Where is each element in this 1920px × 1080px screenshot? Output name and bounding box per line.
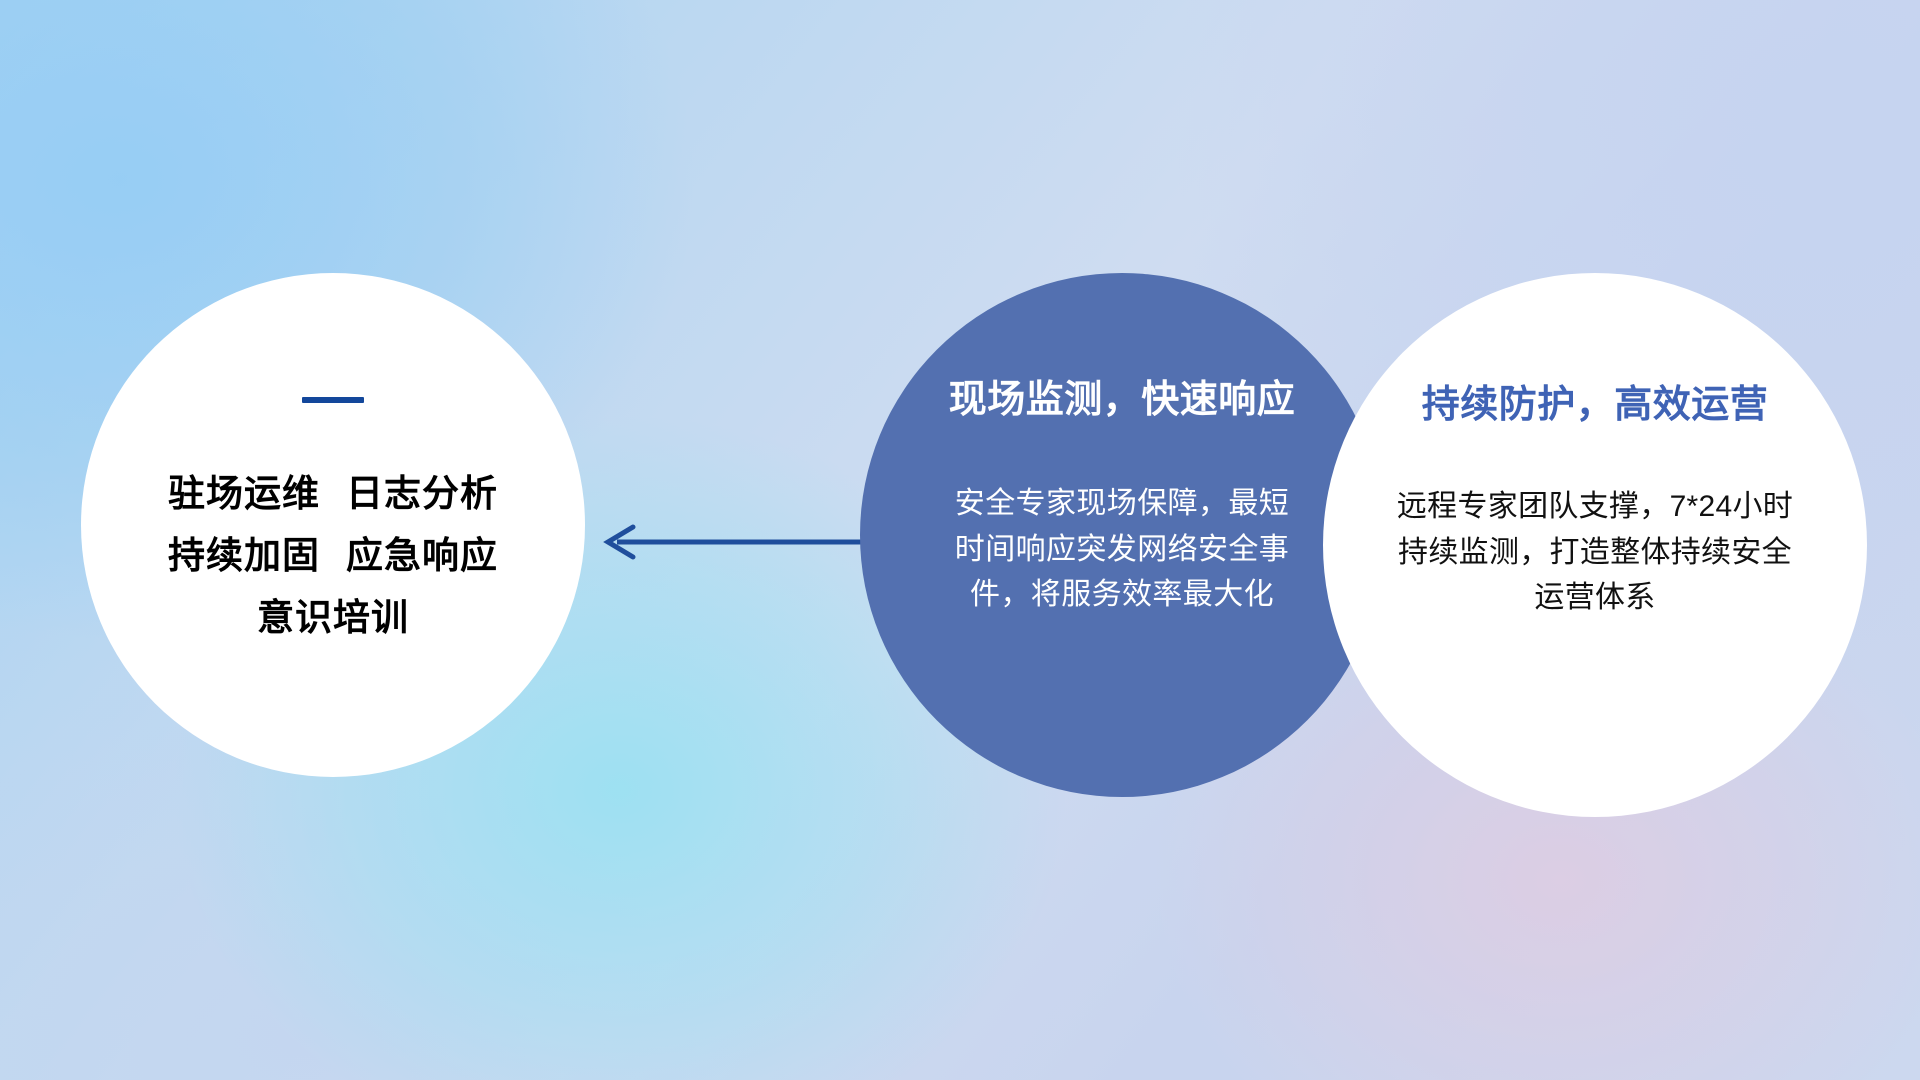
keyword-chixu-jiagu[interactable]: 持续加固: [168, 535, 320, 576]
keyword-rizhi-fenxi[interactable]: 日志分析: [346, 473, 498, 514]
on-site-monitoring-title: 现场监测，快速响应: [949, 368, 1296, 423]
continuous-protection-body: 远程专家团队支撑，7*24小时持续监测，打造整体持续安全运营体系: [1385, 484, 1805, 621]
keyword-row-1: 驻场运维日志分析: [168, 463, 498, 525]
on-site-monitoring-body: 安全专家现场保障，最短时间响应突发网络安全事件，将服务效率最大化: [952, 481, 1292, 618]
keyword-yingji-xiangying[interactable]: 应急响应: [346, 535, 498, 576]
continuous-protection-title: 持续防护，高效运营: [1422, 373, 1769, 428]
keyword-row-2: 持续加固应急响应: [168, 525, 498, 587]
keyword-zhuchang-yunwei[interactable]: 驻场运维: [168, 473, 320, 514]
slide-canvas: 驻场运维日志分析 持续加固应急响应 意识培训 现场监测，快速响应 安全专家现场保…: [0, 0, 1920, 1080]
keyword-row-3: 意识培训: [168, 587, 498, 649]
leftward-arrow-icon: [595, 515, 885, 569]
keyword-list: 驻场运维日志分析 持续加固应急响应 意识培训: [168, 463, 498, 649]
keyword-yishi-peixun[interactable]: 意识培训: [257, 597, 409, 638]
